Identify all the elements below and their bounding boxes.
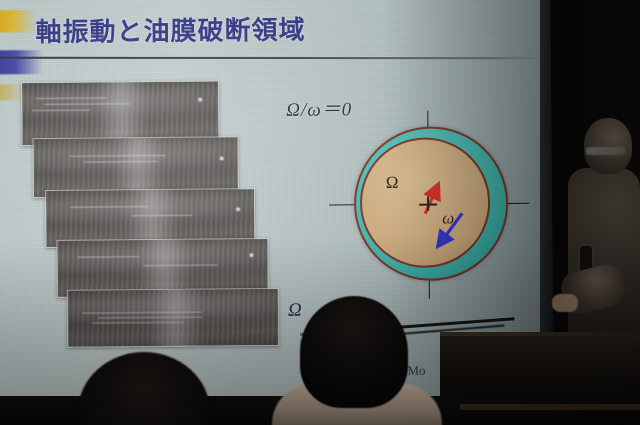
equation-omega-bottom: Ω [288, 300, 303, 322]
podium [440, 336, 640, 425]
photo-scene: 軸振動と油膜破断領域 [0, 0, 640, 425]
title-divider-rule [0, 57, 545, 59]
crosshair-vertical [427, 197, 429, 211]
audience-head-center [300, 296, 408, 408]
podium-rail [440, 404, 640, 410]
diagram-center-crosshair [419, 197, 437, 211]
presenter-body [568, 168, 640, 348]
strip-highlight-dot [198, 98, 202, 102]
presenter-hand [552, 294, 578, 312]
slide-accent-gold-bar [0, 10, 37, 32]
slide-title: 軸振動と油膜破断領域 [35, 10, 305, 49]
label-omega-lower: ω [442, 208, 454, 228]
micrograph-strip [67, 288, 279, 348]
bearing-cross-section-diagram: Ω ω [328, 110, 530, 300]
presenter-silhouette [558, 118, 640, 348]
micrograph-strip-stack [5, 80, 277, 354]
slide-accent-blue-bar [0, 50, 43, 74]
strip-highlight-dot [236, 207, 240, 211]
presenter-head [584, 118, 632, 174]
label-omega-capital: Ω [386, 173, 399, 193]
presenter-glasses [586, 147, 626, 155]
strip-highlight-dot [220, 156, 224, 160]
strip-highlight-dot [249, 253, 253, 257]
